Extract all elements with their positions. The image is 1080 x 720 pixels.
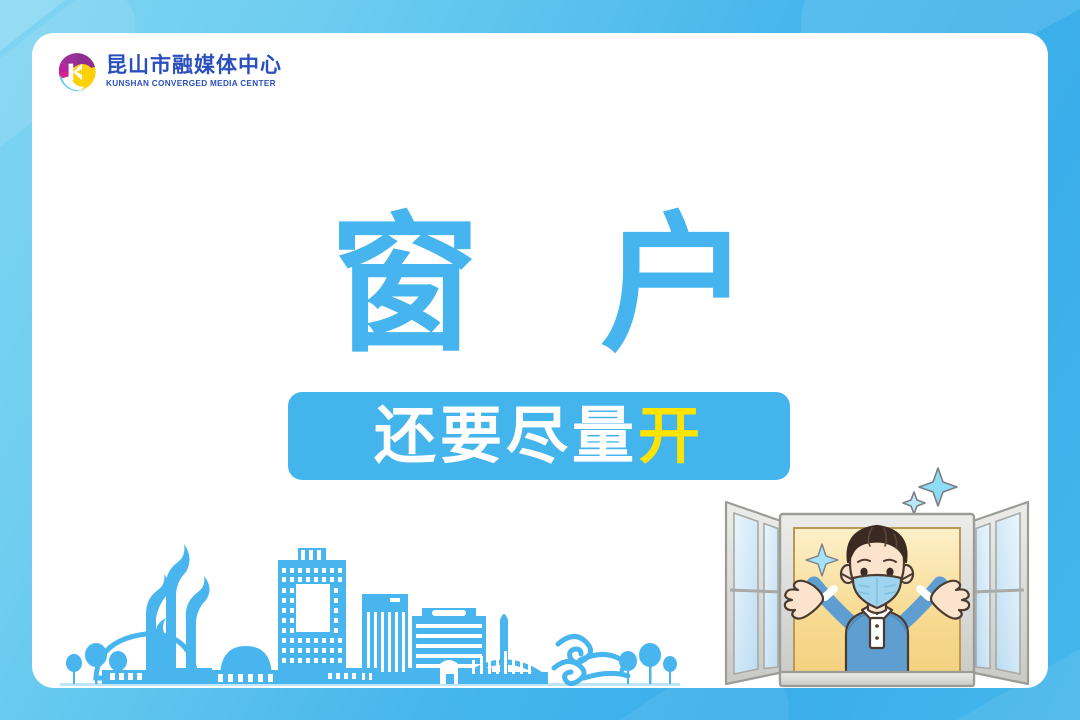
subtitle-banner: 还要尽量开 <box>288 392 790 480</box>
boy-opening-window-icon <box>722 458 1032 688</box>
kunshan-media-logo-icon <box>56 51 98 93</box>
poster-card: 昆山市融媒体中心 KUNSHAN CONVERGED MEDIA CENTER … <box>32 33 1048 688</box>
brand-logo-text: 昆山市融媒体中心 KUNSHAN CONVERGED MEDIA CENTER <box>106 55 282 90</box>
brand-logo: 昆山市融媒体中心 KUNSHAN CONVERGED MEDIA CENTER <box>56 51 282 93</box>
subtitle-banner-text: 还要尽量开 <box>374 405 704 467</box>
subtitle-accent: 开 <box>638 399 704 472</box>
page-title: 窗 户 <box>32 211 1048 361</box>
kunshan-city-skyline-icon <box>60 528 680 688</box>
brand-name-cn: 昆山市融媒体中心 <box>106 55 282 78</box>
brand-name-en: KUNSHAN CONVERGED MEDIA CENTER <box>106 79 282 89</box>
poster-root: 昆山市融媒体中心 KUNSHAN CONVERGED MEDIA CENTER … <box>0 0 1080 720</box>
subtitle-main: 还要尽量 <box>374 399 638 472</box>
